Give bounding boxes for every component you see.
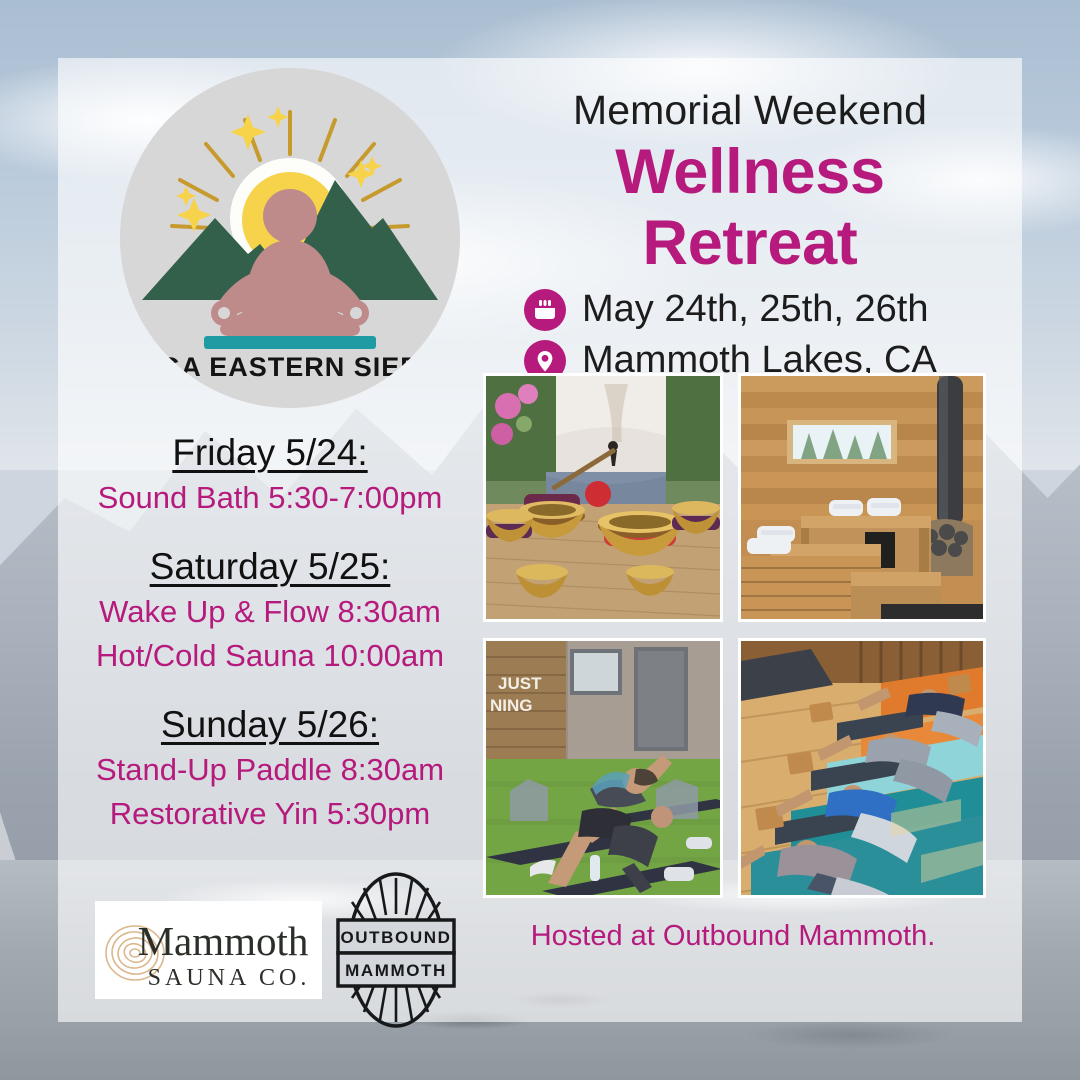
photo-grid: JUST NING xyxy=(483,373,983,918)
schedule-session: Restorative Yin 5:30pm xyxy=(60,792,480,836)
schedule: Friday 5/24: Sound Bath 5:30-7:00pm Satu… xyxy=(60,432,480,836)
event-date: May 24th, 25th, 26th xyxy=(582,288,928,332)
sponsor-logos: Mammoth SAUNA CO. xyxy=(95,870,456,1030)
schedule-session: Wake Up & Flow 8:30am xyxy=(60,590,480,634)
sponsor-name-line1: Mammoth xyxy=(138,918,309,964)
calendar-icon xyxy=(524,289,566,331)
outdoor-yoga-photo: JUST NING xyxy=(483,638,723,898)
schedule-session: Sound Bath 5:30-7:00pm xyxy=(60,476,480,520)
sponsor-name-line2: SAUNA CO. xyxy=(148,965,311,991)
poster: YOGA EASTERN SIERRA Memorial Weekend Wel… xyxy=(0,0,1080,1080)
schedule-session: Hot/Cold Sauna 10:00am xyxy=(60,634,480,678)
schedule-day-heading: Friday 5/24: xyxy=(60,432,480,474)
schedule-day-heading: Sunday 5/26: xyxy=(60,704,480,746)
sauna-interior-photo xyxy=(738,373,986,622)
photo-sign-text-1: JUST xyxy=(498,674,542,693)
page-title: Wellness Retreat xyxy=(500,137,1000,278)
outbound-mammoth-logo: OUTBOUND MAMMOTH xyxy=(336,870,456,1030)
photo-sign-text-2: NING xyxy=(490,696,533,715)
schedule-day-heading: Saturday 5/25: xyxy=(60,546,480,588)
schedule-session: Stand-Up Paddle 8:30am xyxy=(60,748,480,792)
header: Memorial Weekend Wellness Retreat May 24… xyxy=(500,88,1000,390)
footer-note: Hosted at Outbound Mammoth. xyxy=(483,920,983,953)
sponsor-name-line2: MAMMOTH xyxy=(345,961,447,980)
header-kicker: Memorial Weekend xyxy=(500,88,1000,133)
yoga-eastern-sierra-logo: YOGA EASTERN SIERRA xyxy=(120,68,460,408)
meta-row-date: May 24th, 25th, 26th xyxy=(524,288,1000,332)
restorative-yin-photo xyxy=(738,638,986,898)
header-meta: May 24th, 25th, 26th Mammoth Lakes, CA xyxy=(500,288,1000,382)
sound-bath-photo xyxy=(483,373,723,622)
mammoth-sauna-co-logo: Mammoth SAUNA CO. xyxy=(95,901,322,999)
sponsor-name-line1: OUTBOUND xyxy=(340,928,451,947)
